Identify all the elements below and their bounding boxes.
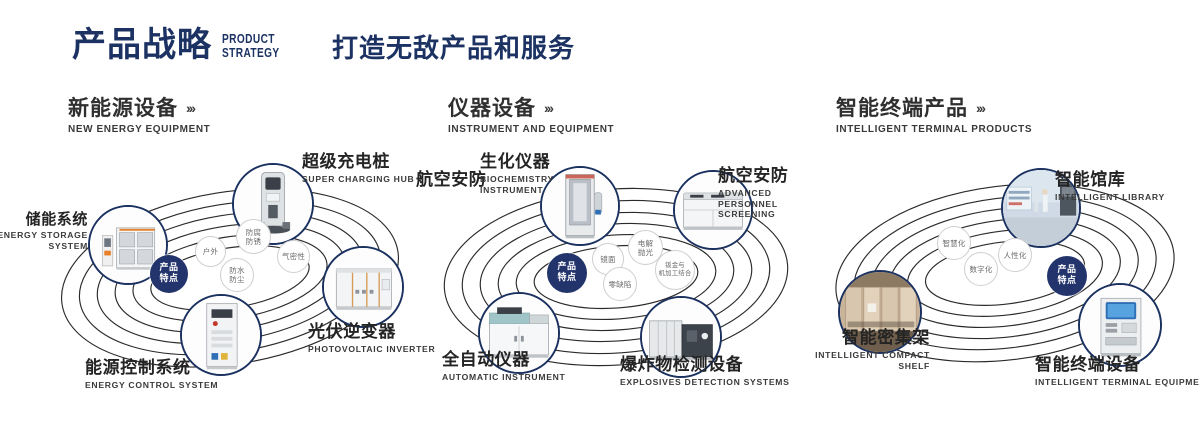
label-intelligent-compact-shelf: 智能密集架 INTELLIGENT COMPACT SHELF [810, 328, 930, 371]
section-header-instrument: 仪器设备››› INSTRUMENT AND EQUIPMENT [448, 96, 614, 135]
bubble-line1: 户外 [203, 247, 218, 256]
page-title-english: PRODUCT STRATEGY [222, 32, 323, 60]
inverter-illustration [324, 248, 402, 326]
badge-line1: 产品 [159, 263, 178, 274]
section-title-cn-2: 智能终端产品››› [836, 96, 1032, 120]
bubble-line1: 气密性 [282, 252, 305, 261]
page-subtitle: 打造无敌产品和服务 [332, 36, 575, 62]
page-header: 产品战略 PRODUCT STRATEGY 打造无敌产品和服务 [0, 0, 1200, 86]
bubble-line1: 零缺陷 [608, 280, 631, 289]
section-title-cn-1: 仪器设备››› [448, 96, 614, 120]
bubble-line1: 防腐 [246, 228, 261, 237]
bubble-line1: 数字化 [969, 265, 992, 274]
label-energy-storage: 储能系统 ENERGY STORAGE SYSTEM [0, 210, 88, 251]
section-title-en-1: INSTRUMENT AND EQUIPMENT [448, 124, 614, 135]
label-en: INTELLIGENT TERMINAL EQUIPMENT [1035, 377, 1200, 388]
feature-bubble-humanization: 人性化 [998, 238, 1032, 272]
chevrons-icon: ››› [186, 100, 194, 116]
label-cn: 航空安防 [416, 170, 486, 190]
section-title-cn-text-1: 仪器设备 [448, 96, 536, 120]
bubble-line1: 智慧化 [942, 239, 965, 248]
label-cn: 超级充电桩 [302, 152, 414, 172]
badge-line2: 特点 [1057, 276, 1076, 287]
label-cn: 智能终端设备 [1035, 355, 1200, 375]
chevrons-icon: ››› [976, 100, 984, 116]
label-cn: 智能馆库 [1055, 170, 1165, 190]
label-cn: 航空安防 [718, 166, 818, 186]
bubble-line1: 人性化 [1003, 251, 1026, 260]
label-cn: 全自动仪器 [442, 350, 565, 370]
label-cn: 生化仪器 [480, 152, 566, 172]
bubble-line2: 防尘 [229, 275, 244, 284]
product-circle-photovoltaic-inverter[interactable] [322, 246, 404, 328]
label-intelligent-terminal-equipment: 智能终端设备 INTELLIGENT TERMINAL EQUIPMENT [1035, 355, 1200, 388]
feature-bubble-outdoor: 户外 [195, 236, 226, 267]
page-title-english-line2: STRATEGY [222, 46, 323, 60]
label-biochemistry-instrument: 生化仪器 BIOCHEMISTRY INSTRUMENT [480, 152, 566, 195]
label-personnel-screening: 航空安防 ADVANCED PERSONNEL SCREENING [718, 166, 818, 220]
label-photovoltaic-inverter: 光伏逆变器 PHOTOVOLTAIC INVERTER [308, 322, 435, 355]
section-title-cn-0: 新能源设备››› [68, 96, 210, 120]
feature-bubble-airtightness: 气密性 [277, 240, 310, 273]
label-en: INTELLIGENT COMPACT SHELF [810, 350, 930, 371]
section-title-en-2: INTELLIGENT TERMINAL PRODUCTS [836, 124, 1032, 135]
label-cn: 智能密集架 [810, 328, 930, 348]
page-title-english-line1: PRODUCT [222, 32, 323, 46]
label-super-charging-hub: 超级充电桩 SUPER CHARGING HUB [302, 152, 414, 185]
label-en: BIOCHEMISTRY INSTRUMENT [480, 174, 566, 195]
badge-line2: 特点 [159, 274, 178, 285]
label-explosives-detection: 爆炸物检测设备 EXPLOSIVES DETECTION SYSTEMS [620, 355, 790, 388]
product-strategy-infographic: 产品战略 PRODUCT STRATEGY 打造无敌产品和服务 新能源设备›››… [0, 0, 1200, 422]
badge-line1: 产品 [557, 262, 576, 273]
product-features-badge: 产品 特点 [150, 255, 188, 293]
cluster-intelligent-terminal: 产品 特点 智慧化 数字化 人性化 智能馆库 INTELLIGENT LIBRA… [815, 150, 1200, 400]
chevrons-icon: ››› [544, 100, 552, 116]
label-energy-control-system: 能源控制系统 ENERGY CONTROL SYSTEM [85, 358, 218, 391]
label-cn: 光伏逆变器 [308, 322, 435, 342]
label-en: PHOTOVOLTAIC INVERTER [308, 344, 435, 355]
section-title-cn-text-0: 新能源设备 [68, 96, 178, 120]
label-intelligent-library: 智能馆库 INTELLIGENT LIBRARY [1055, 170, 1165, 203]
cluster-instrument: 产品 特点 镜面 电解 抛光 钣金与 机加工结合 零缺陷 航空安防 生化仪器 B… [420, 150, 810, 400]
label-en: ENERGY STORAGE SYSTEM [0, 230, 88, 251]
bubble-line2: 抛光 [638, 248, 653, 257]
section-header-new-energy: 新能源设备››› NEW ENERGY EQUIPMENT [68, 96, 210, 135]
product-features-badge: 产品 特点 [1047, 256, 1087, 296]
bubble-line1: 防水 [229, 266, 244, 275]
feature-bubble-zero-defect: 零缺陷 [603, 267, 637, 301]
feature-bubble-anticorrosion: 防腐 防锈 [236, 219, 271, 254]
terminal-equipment-illustration [1080, 285, 1160, 365]
label-en: SUPER CHARGING HUB [302, 174, 414, 185]
badge-line2: 特点 [557, 273, 576, 284]
feature-bubble-sheetmetal-machining: 钣金与 机加工结合 [655, 250, 695, 290]
product-features-badge: 产品 特点 [547, 253, 587, 293]
feature-bubble-digitalization: 数字化 [964, 252, 998, 286]
section-title-cn-text-2: 智能终端产品 [836, 96, 968, 120]
cluster-new-energy: 产品 特点 户外 防腐 防锈 防水 防尘 气密性 储能系统 ENERGY STO… [40, 150, 420, 400]
bubble-line1: 电解 [638, 239, 653, 248]
section-title-en-0: NEW ENERGY EQUIPMENT [68, 124, 210, 135]
badge-line1: 产品 [1057, 265, 1076, 276]
bubble-line1: 镜面 [600, 255, 615, 264]
bubble-line2: 机加工结合 [659, 270, 692, 278]
section-header-intelligent-terminal: 智能终端产品››› INTELLIGENT TERMINAL PRODUCTS [836, 96, 1032, 135]
label-aviation-security-left: 航空安防 [416, 170, 486, 190]
label-en: EXPLOSIVES DETECTION SYSTEMS [620, 377, 790, 388]
label-en: ENERGY CONTROL SYSTEM [85, 380, 218, 391]
feature-bubble-intelligence: 智慧化 [937, 226, 971, 260]
label-en: INTELLIGENT LIBRARY [1055, 192, 1165, 203]
label-cn: 爆炸物检测设备 [620, 355, 790, 375]
label-cn: 储能系统 [0, 210, 88, 228]
label-en: AUTOMATIC INSTRUMENT [442, 372, 565, 383]
label-en: ADVANCED PERSONNEL SCREENING [718, 188, 818, 220]
page-title: 产品战略 [72, 28, 212, 62]
label-cn: 能源控制系统 [85, 358, 218, 378]
bubble-line2: 防锈 [246, 237, 261, 246]
label-automatic-instrument: 全自动仪器 AUTOMATIC INSTRUMENT [442, 350, 565, 383]
feature-bubble-waterproof: 防水 防尘 [220, 258, 254, 292]
